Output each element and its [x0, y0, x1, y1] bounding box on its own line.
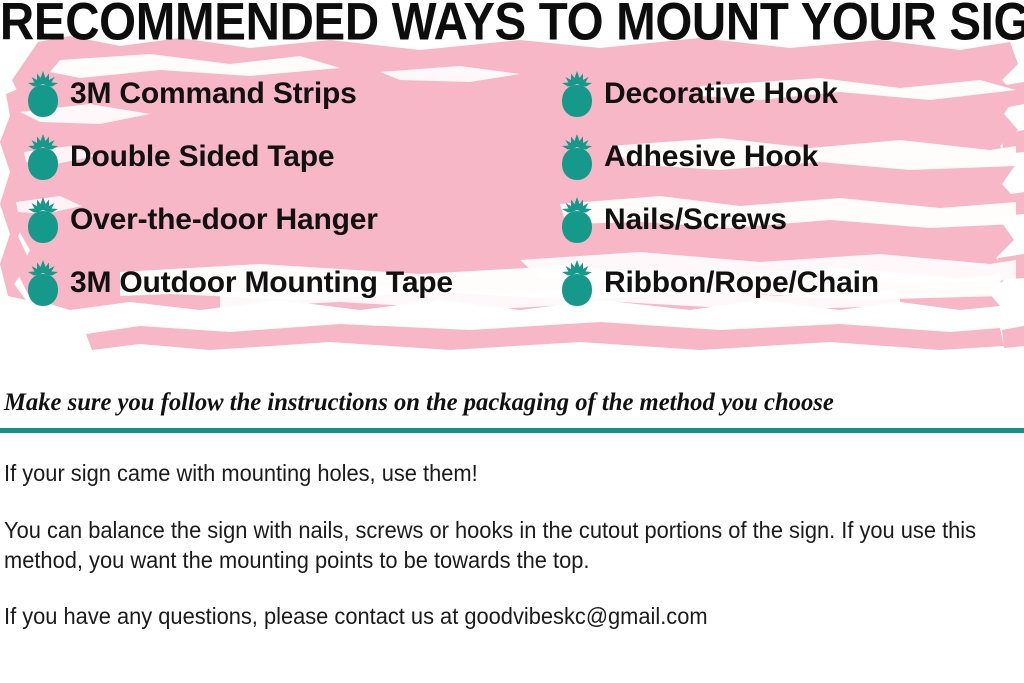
body-text: If your sign came with mounting holes, u… — [4, 458, 1016, 631]
list-item-label: 3M Command Strips — [70, 78, 357, 110]
list-item-label: Ribbon/Rope/Chain — [604, 267, 879, 299]
mounting-instructions-page: RECOMMENDED WAYS TO MOUNT YOUR SIGN 3M C… — [0, 0, 1024, 683]
page-title: RECOMMENDED WAYS TO MOUNT YOUR SIGN — [0, 0, 1024, 51]
pineapple-icon — [26, 134, 60, 180]
list-item-label: Over-the-door Hanger — [70, 204, 378, 236]
pineapple-icon — [560, 260, 594, 306]
mount-methods-left-column: 3M Command Strips Double Sided Tape — [26, 62, 453, 314]
pineapple-icon — [560, 71, 594, 117]
list-item: 3M Outdoor Mounting Tape — [26, 251, 453, 314]
mount-methods-right-column: Decorative Hook Adhesive Hook — [560, 62, 879, 314]
list-item: Double Sided Tape — [26, 125, 453, 188]
pineapple-icon — [26, 71, 60, 117]
body-paragraph-2: You can balance the sign with nails, scr… — [4, 515, 1011, 575]
list-item-label: Nails/Screws — [604, 204, 787, 236]
section-divider — [0, 428, 1024, 433]
list-item: Nails/Screws — [560, 188, 879, 251]
pineapple-icon — [560, 134, 594, 180]
pineapple-icon — [26, 260, 60, 306]
list-item: Ribbon/Rope/Chain — [560, 251, 879, 314]
list-item-label: Decorative Hook — [604, 78, 838, 110]
body-paragraph-1: If your sign came with mounting holes, u… — [4, 458, 1011, 488]
instructions-note: Make sure you follow the instructions on… — [4, 389, 1005, 417]
list-item-label: Double Sided Tape — [70, 141, 334, 173]
list-item: Over-the-door Hanger — [26, 188, 453, 251]
list-item: 3M Command Strips — [26, 62, 453, 125]
pineapple-icon — [26, 197, 60, 243]
list-item: Adhesive Hook — [560, 125, 879, 188]
pineapple-icon — [560, 197, 594, 243]
list-item-label: 3M Outdoor Mounting Tape — [70, 267, 453, 299]
list-item-label: Adhesive Hook — [604, 141, 818, 173]
mount-methods-list: 3M Command Strips Double Sided Tape — [0, 62, 1024, 322]
body-paragraph-3: If you have any questions, please contac… — [4, 601, 1011, 631]
list-item: Decorative Hook — [560, 62, 879, 125]
